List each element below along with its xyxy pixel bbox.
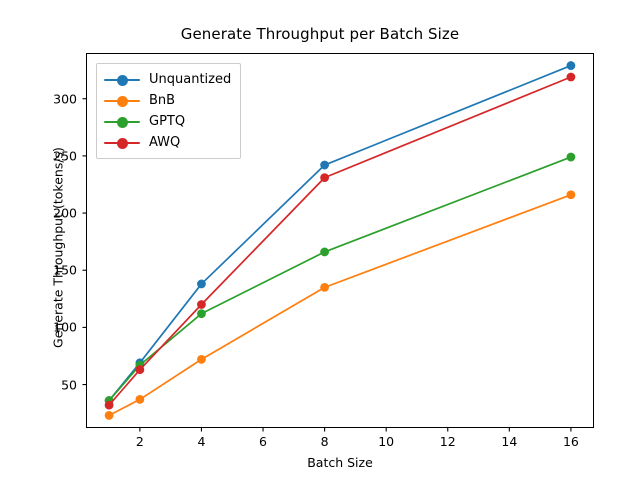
x-tick-label: 2	[120, 434, 160, 449]
legend-item-bnb[interactable]: BnB	[104, 90, 231, 111]
x-tick-label: 10	[366, 434, 406, 449]
legend-item-unquantized[interactable]: Unquantized	[104, 69, 231, 90]
legend-item-gptq[interactable]: GPTQ	[104, 111, 231, 132]
legend-marker-icon	[104, 136, 140, 150]
x-tick-label: 14	[489, 434, 529, 449]
x-tick-label: 8	[305, 434, 345, 449]
chart-legend: UnquantizedBnBGPTQAWQ	[96, 63, 241, 159]
y-axis-label: Generate Throughput (tokens/s)	[51, 98, 66, 398]
x-tick-label: 6	[243, 434, 283, 449]
x-tick-label: 16	[551, 434, 591, 449]
legend-label: Unquantized	[149, 72, 231, 87]
legend-marker-icon	[104, 115, 140, 129]
x-tick-label: 4	[181, 434, 221, 449]
x-axis-label: Batch Size	[86, 455, 594, 470]
legend-marker-icon	[104, 94, 140, 108]
x-tick-label: 12	[428, 434, 468, 449]
legend-label: BnB	[149, 93, 175, 108]
legend-label: GPTQ	[149, 114, 185, 129]
chart-figure: Generate Throughput per Batch Size 50100…	[0, 0, 640, 480]
chart-title: Generate Throughput per Batch Size	[0, 25, 640, 43]
legend-item-awq[interactable]: AWQ	[104, 132, 231, 153]
legend-marker-icon	[104, 73, 140, 87]
legend-label: AWQ	[149, 135, 180, 150]
